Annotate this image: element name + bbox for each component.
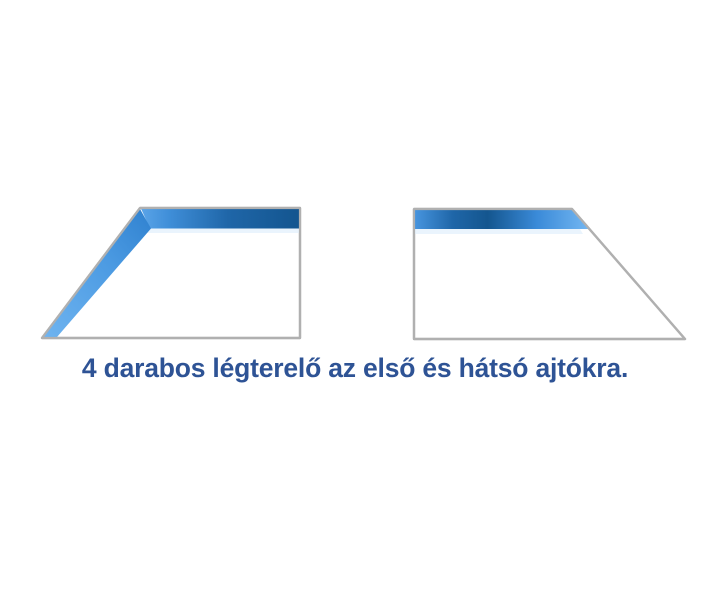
front-door-window-shape: [42, 208, 300, 338]
rear-window-inner-highlight: [415, 229, 583, 234]
front-window-inner-highlight: [142, 228, 299, 233]
diagram-canvas: 4 darabos légterelő az első és hátsó ajt…: [0, 0, 710, 613]
caption-text: 4 darabos légterelő az első és hátsó ajt…: [0, 352, 710, 385]
window-deflector-illustration: [0, 0, 710, 350]
rear-door-window-shape: [414, 209, 685, 339]
front-deflector-top-band: [141, 209, 300, 229]
figure-area: [0, 0, 710, 350]
rear-deflector-top-band: [415, 210, 590, 229]
